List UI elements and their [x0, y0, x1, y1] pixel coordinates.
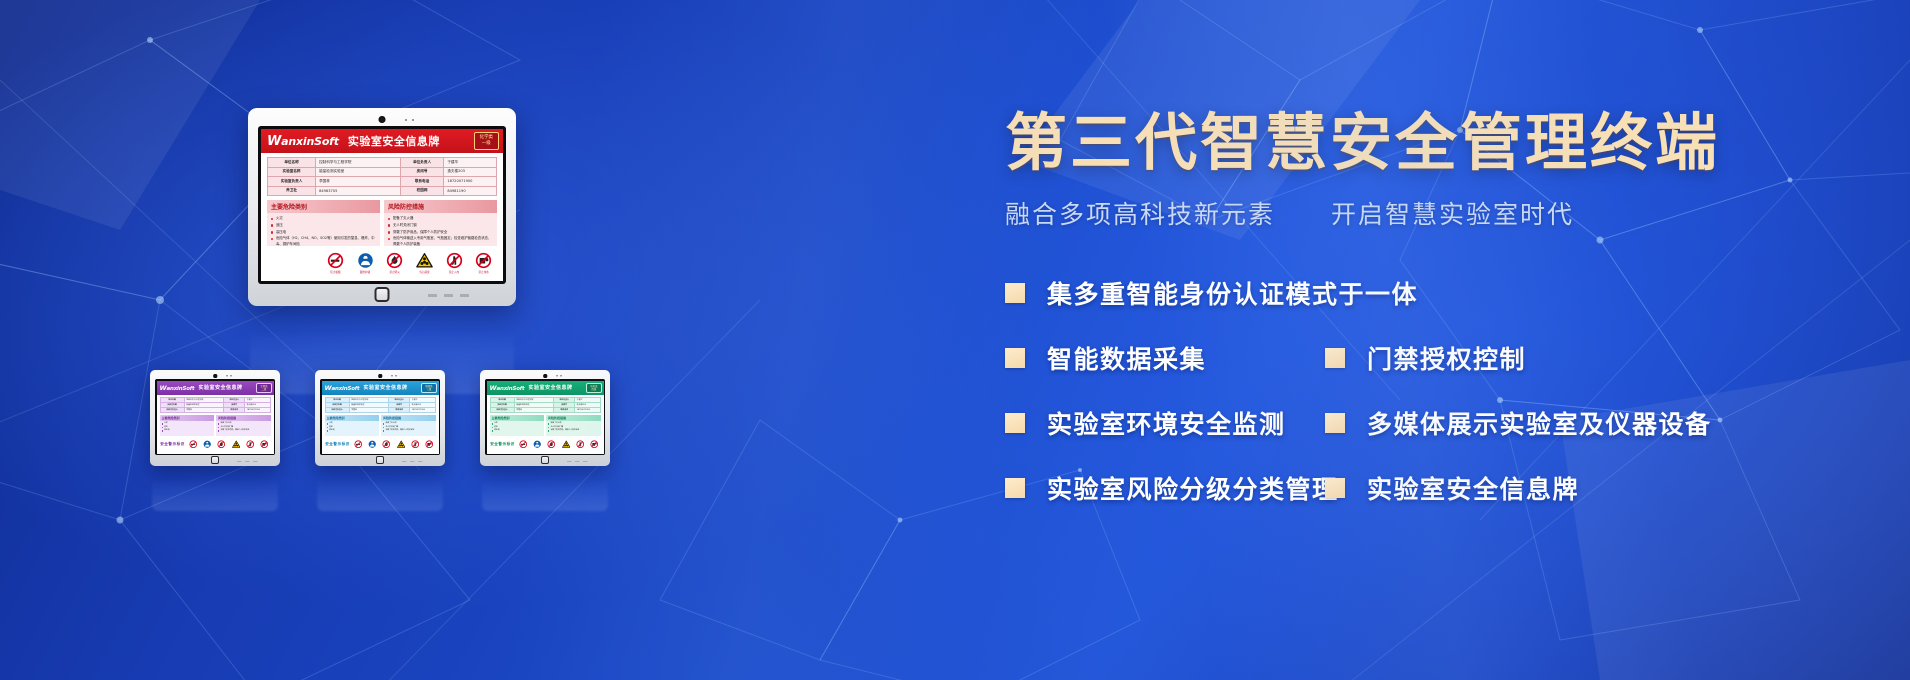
- list-item: 火灾: [162, 422, 213, 425]
- no-entry-sign: 禁止入内: [441, 250, 468, 276]
- no-smoking-icon: [327, 252, 344, 269]
- no-fire-icon: [217, 440, 226, 449]
- logo-suffix: Soft: [512, 386, 524, 392]
- risk-sections: 主要危险类别 火灾 追压 高压电 危险气体（H2、CH4、NO、SO2等）使用引…: [267, 200, 497, 246]
- sensor-dots-icon: [226, 375, 232, 377]
- feature-item: 集多重智能身份认证模式于一体: [1005, 275, 1418, 311]
- table-row: 单位名称 控制科学与工程学院 单位负责人 于建华: [268, 158, 497, 168]
- control-section: 风险防控措施 配备了灭火器 无人时关闭门窗 穿戴了防护用品，保障个人防护安全 危…: [384, 200, 497, 246]
- cell-value: 84983705: [316, 186, 401, 196]
- list-item: 高压电: [492, 429, 543, 432]
- list-item: 配备了灭火器: [548, 422, 599, 425]
- list-item: 高压电: [271, 230, 376, 235]
- bullet-square-icon: [1325, 348, 1345, 368]
- warning-triangle-icon: [232, 440, 241, 449]
- page-subtitle: 融合多项高科技新元素开启智慧实验室时代: [1005, 195, 1885, 231]
- safety-signs-row: 安全警示标识: [160, 438, 271, 451]
- sign-caption: 当心感染: [419, 270, 429, 274]
- control-list: 配备了灭火器 无人时关闭门窗 穿戴了防护用品，保障个人防护安全: [216, 421, 271, 436]
- risk-sections: 主要危险类别 火灾 追压 高压电 风险防控措施 配备了灭火器 无人时关闭门窗 穿…: [160, 415, 271, 436]
- main-tablet-device: WanxinSoft 实验室安全信息牌 化学类 一级 单位名称 控制科学与工程学…: [248, 108, 516, 306]
- page-title: 第三代智慧安全管理终端: [1005, 110, 1885, 175]
- list-item: 火灾: [271, 216, 376, 221]
- no-fire-sign: [545, 438, 558, 451]
- feature-item: 多媒体展示实验室及仪器设备: [1325, 405, 1745, 441]
- board-header: WanxinSoft 实验室安全信息牌 生物类 二级: [157, 381, 274, 395]
- feature-label: 多媒体展示实验室及仪器设备: [1367, 405, 1712, 441]
- feature-item: 智能数据采集: [1005, 340, 1325, 376]
- cell-value: 李国林: [316, 177, 401, 187]
- board-title: 实验室安全信息牌: [348, 133, 440, 149]
- feature-label: 实验室安全信息牌: [1367, 470, 1579, 506]
- no-smoking-sign: 禁止吸烟: [322, 250, 349, 276]
- cell-value: 逸夫楼203: [444, 167, 497, 177]
- no-smoking-icon: [354, 440, 363, 449]
- no-smoking-sign: [187, 438, 200, 451]
- safety-info-board: WanxinSoft 实验室安全信息牌 化学类 一级 单位名称 控制科学与工程学…: [261, 129, 503, 281]
- wanxinsoft-logo: WanxinSoft: [490, 384, 525, 392]
- sensor-dots-icon: [404, 119, 415, 121]
- cell-label: 联系电话: [400, 177, 444, 187]
- tablet-screen-bezel: WanxinSoft 实验室安全信息牌 机电类 四级 单位名称控制科学与工程学院…: [485, 379, 605, 455]
- safety-signs-label: 安全警示标识: [160, 442, 186, 447]
- warning-triangle-icon: [562, 440, 571, 449]
- speaker-grill-icon: [237, 461, 259, 463]
- sign-caption: 禁止用水: [479, 270, 489, 274]
- warning-triangle-icon: [397, 440, 406, 449]
- cell-label: 校园网: [400, 186, 444, 196]
- wear-goggles-icon: [203, 440, 212, 449]
- sign-caption: 禁止入内: [449, 270, 459, 274]
- feature-item: 实验室风险分级分类管理: [1005, 470, 1325, 506]
- no-smoking-sign: [352, 438, 365, 451]
- wear-goggles-sign: [366, 438, 379, 451]
- cell-label: 实验室负责人: [490, 407, 514, 412]
- list-item: 危险气体输送入专用气瓶室，气瓶固定；检查维护管路检查状态，佩戴个人防护装备: [388, 236, 493, 246]
- cell-label: 联系电话: [554, 407, 575, 412]
- list-item: 火灾: [492, 422, 543, 425]
- wanxinsoft-logo: WanxinSoft: [267, 134, 339, 149]
- bullet-square-icon: [1005, 413, 1025, 433]
- board-title: 实验室安全信息牌: [363, 384, 407, 391]
- tablet-screen-bezel: WanxinSoft 实验室安全信息牌 化学类 一级 单位名称 控制科学与工程学…: [258, 126, 506, 284]
- board-header: WanxinSoft 实验室安全信息牌 化学类 一级: [261, 129, 503, 153]
- bullet-square-icon: [1005, 478, 1025, 498]
- cell-label: 养卫社: [268, 186, 316, 196]
- home-button[interactable]: [375, 287, 390, 302]
- no-water-icon: [475, 252, 492, 269]
- grade-level: 四级: [590, 388, 597, 391]
- no-smoking-sign: [517, 438, 530, 451]
- logo-suffix: Soft: [347, 386, 359, 392]
- no-smoking-icon: [189, 440, 198, 449]
- home-button[interactable]: [376, 456, 384, 464]
- control-section: 风险防控措施 配备了灭火器 无人时关闭门窗 穿戴了防护用品，保障个人防护安全: [546, 415, 601, 436]
- safety-signs-label: 安全警示标识: [490, 442, 516, 447]
- speaker-grill-icon: [567, 461, 589, 463]
- hero-text-pane: 第三代智慧安全管理终端 融合多项高科技新元素开启智慧实验室时代 集多重智能身份认…: [1005, 110, 1885, 535]
- lab-info-table: 单位名称控制科学与工程学院单位负责人于建华 实验室名称能量检测实验室房间号逸夫楼…: [325, 397, 436, 413]
- speaker-grill-icon: [402, 461, 424, 463]
- front-camera-icon: [379, 116, 386, 123]
- grade-badge: 化学类 一级: [474, 132, 500, 150]
- safety-info-board: WanxinSoft 实验室安全信息牌 机电类 四级 单位名称控制科学与工程学院…: [487, 381, 604, 454]
- feature-label: 智能数据采集: [1047, 340, 1206, 376]
- cell-value: 于建华: [444, 158, 497, 168]
- feature-row: 集多重智能身份认证模式于一体: [1005, 275, 1885, 311]
- lab-info-table: 单位名称控制科学与工程学院单位负责人于建华 实验室名称能量检测实验室房间号逸夫楼…: [490, 397, 601, 413]
- list-item: 穿戴了防护用品，保障个人防护安全: [383, 429, 434, 432]
- home-button[interactable]: [211, 456, 219, 464]
- no-entry-icon: [411, 440, 420, 449]
- cell-label: 实验室负责人: [268, 177, 316, 187]
- no-entry-icon: [246, 440, 255, 449]
- list-item: 穿戴了防护用品，保障个人防护安全: [548, 429, 599, 432]
- cell-label: 实验室名称: [268, 167, 316, 177]
- wear-goggles-icon: [368, 440, 377, 449]
- feature-row: 智能数据采集 门禁授权控制: [1005, 340, 1885, 376]
- mini-tablet-green: WanxinSoft 实验室安全信息牌 机电类 四级 单位名称控制科学与工程学院…: [480, 370, 610, 466]
- warning-triangle-icon: [416, 252, 433, 269]
- hazard-heading: 主要危险类别: [267, 200, 380, 213]
- control-section: 风险防控措施 配备了灭火器 无人时关闭门窗 穿戴了防护用品，保障个人防护安全: [381, 415, 436, 436]
- no-fire-sign: [215, 438, 228, 451]
- no-water-sign: [423, 438, 436, 451]
- front-camera-icon: [213, 374, 217, 378]
- feature-item: 实验室环境安全监测: [1005, 405, 1325, 441]
- wear-goggles-icon: [357, 252, 374, 269]
- safety-signs-row: 安全警示标识: [490, 438, 601, 451]
- no-entry-sign: [409, 438, 422, 451]
- front-camera-icon: [543, 374, 547, 378]
- table-row: 实验室名称 能量检测实验室 房间号 逸夫楼203: [268, 167, 497, 177]
- list-item: 配备了灭火器: [218, 422, 269, 425]
- list-item: 穿戴了防护用品，保障个人防护安全: [388, 230, 493, 235]
- no-water-icon: [425, 440, 434, 449]
- feature-list: 集多重智能身份认证模式于一体 智能数据采集 门禁授权控制 实验室环境安全监测: [1005, 275, 1885, 506]
- logo-name: anxin: [281, 135, 314, 148]
- hazard-section: 主要危险类别 火灾 追压 高压电: [160, 415, 215, 436]
- table-row: 养卫社 84983705 校园网 84981190: [268, 186, 497, 196]
- tablet-screen-bezel: WanxinSoft 实验室安全信息牌 生物类 二级 单位名称控制科学与工程学院…: [155, 379, 275, 455]
- wear-goggles-icon: [533, 440, 542, 449]
- board-title: 实验室安全信息牌: [198, 384, 242, 391]
- logo-name: anxin: [331, 386, 347, 392]
- no-fire-icon: [382, 440, 391, 449]
- feature-row: 实验室风险分级分类管理 实验室安全信息牌: [1005, 470, 1885, 506]
- board-header: WanxinSoft 实验室安全信息牌 物理类 三级: [322, 381, 439, 395]
- feature-label: 集多重智能身份认证模式于一体: [1047, 275, 1418, 311]
- cell-label: 单位名称: [268, 158, 316, 168]
- hazard-section: 主要危险类别 火灾 追压 高压电 危险气体（H2、CH4、NO、SO2等）使用引…: [267, 200, 380, 246]
- feature-item: 实验室安全信息牌: [1325, 470, 1745, 506]
- no-entry-sign: [574, 438, 587, 451]
- speaker-grill-icon: [428, 294, 472, 297]
- hazard-list: 火灾 追压 高压电: [325, 421, 380, 436]
- cell-value: 18720071900: [245, 407, 270, 412]
- banner-stage: WanxinSoft 实验室安全信息牌 化学类 一级 单位名称 控制科学与工程学…: [0, 0, 1910, 680]
- logo-suffix: Soft: [314, 135, 339, 148]
- biohazard-warning-sign: [230, 438, 243, 451]
- cell-label: 实验室负责人: [325, 407, 349, 412]
- no-entry-icon: [576, 440, 585, 449]
- cell-value: 84981190: [444, 186, 497, 196]
- no-fire-icon: [386, 252, 403, 269]
- safety-signs-row: 安全警示标识: [325, 438, 436, 451]
- sign-caption: 禁止明火: [389, 270, 399, 274]
- feature-label: 实验室环境安全监测: [1047, 405, 1286, 441]
- cell-value: 李国林: [349, 407, 389, 412]
- no-water-icon: [260, 440, 269, 449]
- cell-value: 控制科学与工程学院: [316, 158, 401, 168]
- no-fire-sign: 禁止明火: [381, 250, 408, 276]
- home-button[interactable]: [541, 456, 549, 464]
- cell-label: 联系电话: [224, 407, 245, 412]
- list-item: 配备了灭火器: [388, 216, 493, 221]
- safety-signs-label: 安全警示标识: [267, 258, 319, 268]
- sign-caption: 禁止吸烟: [330, 270, 340, 274]
- cell-label: 实验室负责人: [160, 407, 184, 412]
- grade-level: 一级: [480, 141, 494, 147]
- cell-value: 18720071900: [444, 177, 497, 187]
- list-item: 高压电: [327, 429, 378, 432]
- grade-badge: 机电类 四级: [586, 383, 601, 393]
- risk-sections: 主要危险类别 火灾 追压 高压电 风险防控措施 配备了灭火器 无人时关闭门窗 穿…: [490, 415, 601, 436]
- grade-badge: 物理类 三级: [421, 383, 436, 393]
- wanxinsoft-logo: WanxinSoft: [325, 384, 360, 392]
- feature-label: 实验室风险分级分类管理: [1047, 470, 1339, 506]
- list-item: 危险气体（H2、CH4、NO、SO2等）使用引发的窒息、爆炸、中毒、锅炉车间险: [271, 236, 376, 246]
- lab-info-table: 单位名称 控制科学与工程学院 单位负责人 于建华 实验室名称 能量检测实验室 房…: [267, 157, 497, 196]
- board-title: 实验室安全信息牌: [528, 384, 572, 391]
- control-section: 风险防控措施 配备了灭火器 无人时关闭门窗 穿戴了防护用品，保障个人防护安全: [216, 415, 271, 436]
- sensor-dots-icon: [556, 375, 562, 377]
- table-row: 实验室负责人李国林联系电话18720071900: [325, 407, 435, 412]
- hazard-list: 火灾 追压 高压电 危险气体（H2、CH4、NO、SO2等）使用引发的窒息、爆炸…: [267, 213, 380, 246]
- control-list: 配备了灭火器 无人时关闭门窗 穿戴了防护用品，保障个人防护安全 危险气体输送入专…: [384, 213, 497, 246]
- list-item: 高压电: [162, 429, 213, 432]
- safety-info-board: WanxinSoft 实验室安全信息牌 物理类 三级 单位名称控制科学与工程学院…: [322, 381, 439, 454]
- sign-caption: 戴防护镜: [360, 270, 370, 274]
- wear-goggles-sign: [201, 438, 214, 451]
- list-item: 配备了灭火器: [383, 422, 434, 425]
- biohazard-warning-sign: 当心感染: [411, 250, 438, 276]
- grade-level: 二级: [260, 388, 267, 391]
- biohazard-warning-sign: [395, 438, 408, 451]
- safety-signs-row: 安全警示标识 禁止吸烟: [267, 250, 497, 276]
- hazard-list: 火灾 追压 高压电: [490, 421, 545, 436]
- control-list: 配备了灭火器 无人时关闭门窗 穿戴了防护用品，保障个人防护安全: [546, 421, 601, 436]
- list-item: 追压: [271, 223, 376, 228]
- bullet-square-icon: [1325, 413, 1345, 433]
- bullet-square-icon: [1005, 283, 1025, 303]
- hazard-section: 主要危险类别 火灾 追压 高压电: [490, 415, 545, 436]
- front-camera-icon: [378, 374, 382, 378]
- no-water-sign: [588, 438, 601, 451]
- wanxinsoft-logo: WanxinSoft: [160, 384, 195, 392]
- no-fire-icon: [547, 440, 556, 449]
- table-row: 实验室负责人李国林联系电话18720071900: [490, 407, 600, 412]
- logo-suffix: Soft: [182, 386, 194, 392]
- table-row: 实验室负责人李国林联系电话18720071900: [160, 407, 270, 412]
- no-water-icon: [590, 440, 599, 449]
- no-smoking-icon: [519, 440, 528, 449]
- grade-badge: 生物类 二级: [256, 383, 271, 393]
- hazard-section: 主要危险类别 火灾 追压 高压电: [325, 415, 380, 436]
- table-row: 实验室负责人 李国林 联系电话 18720071900: [268, 177, 497, 187]
- subtitle-part-2: 开启智慧实验室时代: [1331, 200, 1574, 229]
- no-entry-icon: [446, 252, 463, 269]
- mini-tablet-purple: WanxinSoft 实验室安全信息牌 生物类 二级 单位名称控制科学与工程学院…: [150, 370, 280, 466]
- no-water-sign: [258, 438, 271, 451]
- cell-label: 单位负责人: [400, 158, 444, 168]
- logo-name: anxin: [496, 386, 512, 392]
- mini-tablet-blue: WanxinSoft 实验室安全信息牌 物理类 三级 单位名称控制科学与工程学院…: [315, 370, 445, 466]
- list-item: 无人时关闭门窗: [388, 223, 493, 228]
- safety-signs-label: 安全警示标识: [325, 442, 351, 447]
- control-list: 配备了灭火器 无人时关闭门窗 穿戴了防护用品，保障个人防护安全: [381, 421, 436, 436]
- logo-name: anxin: [166, 386, 182, 392]
- cell-value: 18720071900: [410, 407, 435, 412]
- feature-item: 门禁授权控制: [1325, 340, 1745, 376]
- cell-value: 李国林: [184, 407, 224, 412]
- feature-row: 实验室环境安全监测 多媒体展示实验室及仪器设备: [1005, 405, 1885, 441]
- no-water-sign: 禁止用水: [470, 250, 497, 276]
- control-heading: 风险防控措施: [384, 200, 497, 213]
- logo-initial: W: [267, 134, 281, 149]
- subtitle-part-1: 融合多项高科技新元素: [1005, 200, 1275, 229]
- feature-label: 门禁授权控制: [1367, 340, 1526, 376]
- board-header: WanxinSoft 实验室安全信息牌 机电类 四级: [487, 381, 604, 395]
- sensor-dots-icon: [391, 375, 397, 377]
- grade-level: 三级: [425, 388, 432, 391]
- biohazard-warning-sign: [560, 438, 573, 451]
- tablet-screen-bezel: WanxinSoft 实验室安全信息牌 物理类 三级 单位名称控制科学与工程学院…: [320, 379, 440, 455]
- no-fire-sign: [380, 438, 393, 451]
- list-item: 火灾: [327, 422, 378, 425]
- wear-goggles-sign: [531, 438, 544, 451]
- cell-value: 18720071900: [575, 407, 600, 412]
- bullet-square-icon: [1325, 478, 1345, 498]
- cell-value: 能量检测实验室: [316, 167, 401, 177]
- wear-goggles-sign: 戴防护镜: [352, 250, 379, 276]
- safety-info-board: WanxinSoft 实验室安全信息牌 生物类 二级 单位名称控制科学与工程学院…: [157, 381, 274, 454]
- list-item: 穿戴了防护用品，保障个人防护安全: [218, 429, 269, 432]
- risk-sections: 主要危险类别 火灾 追压 高压电 风险防控措施 配备了灭火器 无人时关闭门窗 穿…: [325, 415, 436, 436]
- hazard-list: 火灾 追压 高压电: [160, 421, 215, 436]
- no-entry-sign: [244, 438, 257, 451]
- cell-label: 联系电话: [389, 407, 410, 412]
- cell-value: 李国林: [514, 407, 554, 412]
- bullet-square-icon: [1005, 348, 1025, 368]
- cell-label: 房间号: [400, 167, 444, 177]
- lab-info-table: 单位名称控制科学与工程学院单位负责人于建华 实验室名称能量检测实验室房间号逸夫楼…: [160, 397, 271, 413]
